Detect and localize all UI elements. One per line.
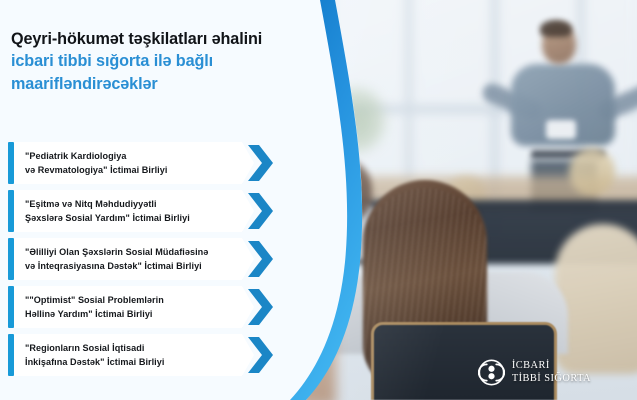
headline-line-2: icbari tibbi sığorta ilə bağlı — [11, 50, 351, 72]
accent-bar — [8, 238, 14, 280]
ngo-name-3-line-2: və İnteqrasiyasına Dəstək" İctimai Birli… — [25, 261, 202, 271]
ngo-name-5: "Regionların Sosial İqtisadiİnkişafına D… — [14, 341, 198, 370]
ngo-name-2: "Eşitmə və Nitq MəhdudiyyətliŞəxslərə So… — [14, 197, 224, 226]
audience-brunette-left — [320, 160, 372, 220]
ngo-name-4-line-2: Həllinə Yardım" İctimai Birliyi — [25, 309, 153, 319]
chevron-right-icon[interactable] — [246, 240, 274, 278]
headline: Qeyri-hökumət təşkilatları əhalini icbar… — [11, 28, 351, 95]
ngo-name-3-line-1: "Əlilliyi Olan Şəxslərin Sosial Müdafiəs… — [25, 247, 208, 257]
list-item[interactable]: "Regionların Sosial İqtisadiİnkişafına D… — [8, 334, 298, 376]
brand-logo-line-2: TİBBİ SIĞORTA — [512, 373, 591, 386]
list-item[interactable]: "Eşitmə və Nitq MəhdudiyyətliŞəxslərə So… — [8, 190, 298, 232]
ngo-name-1-line-2: və Revmatologiya" İctimai Birliyi — [25, 165, 167, 175]
list-item[interactable]: ""Optimist" Sosial ProblemlərinHəllinə Y… — [8, 286, 298, 328]
presenter-hair — [540, 20, 572, 37]
presenter-badge — [546, 120, 576, 139]
chevron-right-icon[interactable] — [246, 192, 274, 230]
brand-logo-wordmark: İCBARİ TİBBİ SIĞORTA — [512, 360, 591, 385]
ngo-name-2-line-2: Şəxslərə Sosial Yardım" İctimai Birliyi — [25, 213, 190, 223]
ngo-name-2-line-1: "Eşitmə və Nitq Məhdudiyyətli — [25, 199, 157, 209]
ngo-name-5-line-1: "Regionların Sosial İqtisadi — [25, 343, 144, 353]
greenery-blur — [327, 88, 385, 152]
ngo-name-1-line-1: "Pediatrik Kardiologiya — [25, 151, 126, 161]
list-item[interactable]: "Əlilliyi Olan Şəxslərin Sosial Müdafiəs… — [8, 238, 298, 280]
banner-canvas: Qeyri-hökumət təşkilatları əhalini icbar… — [0, 0, 637, 400]
list-item[interactable]: "Pediatrik Kardiologiyavə Revmatologiya"… — [8, 142, 298, 184]
chevron-right-icon[interactable] — [246, 336, 274, 374]
ngo-name-1: "Pediatrik Kardiologiyavə Revmatologiya"… — [14, 149, 201, 178]
ngo-name-5-line-2: İnkişafına Dəstək" İctimai Birliyi — [25, 357, 164, 367]
brand-logo-line-1: İCBARİ — [512, 360, 591, 373]
headline-line-1: Qeyri-hökumət təşkilatları əhalini — [11, 28, 351, 50]
accent-bar — [8, 286, 14, 328]
ngo-name-4-line-1: ""Optimist" Sosial Problemlərin — [25, 295, 164, 305]
chevron-right-icon[interactable] — [246, 288, 274, 326]
icbari-tibbi-sigorta-emblem-icon — [478, 359, 505, 386]
accent-bar — [8, 142, 14, 184]
ngo-list: "Pediatrik Kardiologiyavə Revmatologiya"… — [8, 142, 298, 382]
accent-bar — [8, 334, 14, 376]
accent-bar — [8, 190, 14, 232]
ngo-name-4: ""Optimist" Sosial ProblemlərinHəllinə Y… — [14, 293, 198, 322]
brand-logo: İCBARİ TİBBİ SIĞORTA — [478, 359, 591, 386]
chevron-right-icon[interactable] — [246, 144, 274, 182]
headline-line-3: maarifləndirəcəklər — [11, 73, 351, 95]
ngo-name-3: "Əlilliyi Olan Şəxslərin Sosial Müdafiəs… — [14, 245, 242, 274]
